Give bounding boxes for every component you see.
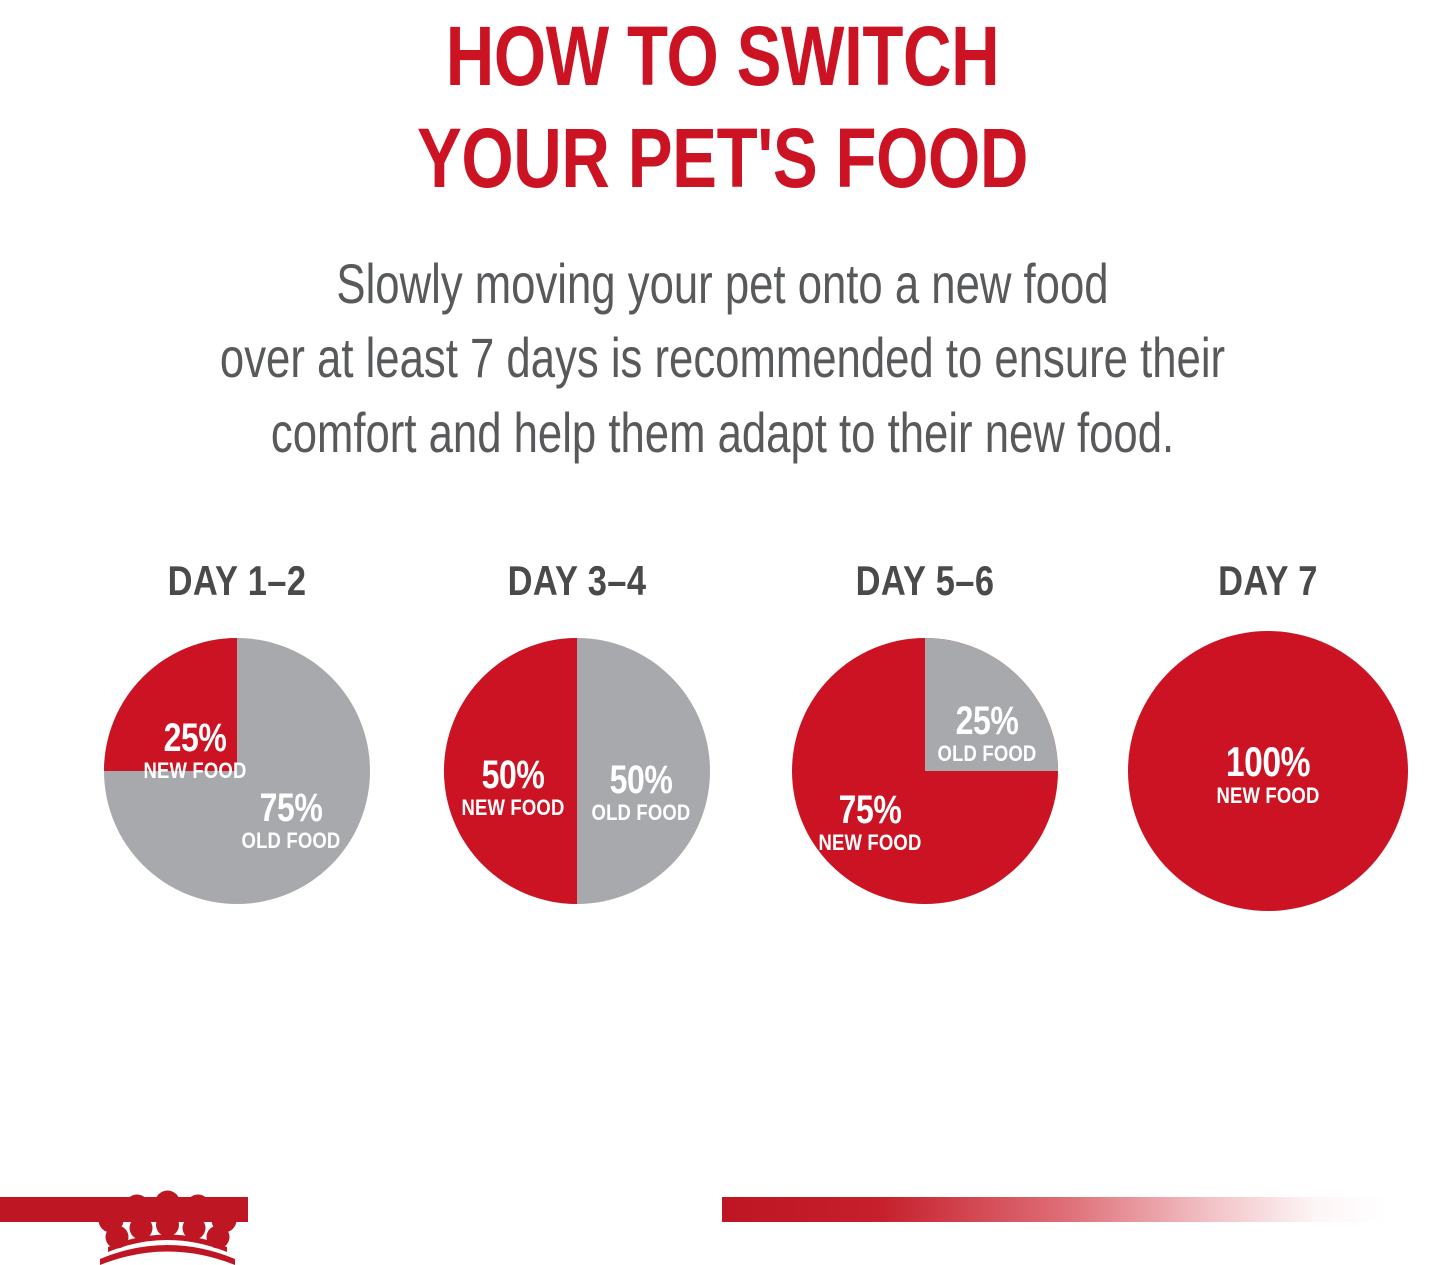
pie-chart-day-3-4: DAY 3–4 50% NEW FOOD 50% OLD FOOD: [427, 560, 727, 904]
page-subtitle: Slowly moving your pet onto a new food o…: [159, 247, 1286, 470]
pie-slice-old-food-3: [925, 638, 1058, 771]
pie-chart-day-7: DAY 7 100% NEW FOOD: [1118, 560, 1418, 911]
pie-svg-1: [104, 638, 370, 904]
pie-slice-new-food-2: [444, 638, 577, 904]
pie-chart-day-1-2: DAY 1–2 25% NEW FOOD 75% OLD FOOD: [87, 560, 387, 904]
pie-graphic-1: 25% NEW FOOD 75% OLD FOOD: [104, 638, 370, 904]
royal-canin-crown-icon: [86, 1175, 249, 1265]
pie-slice-new-food-4: [1128, 631, 1408, 911]
header: HOW TO SWITCH YOUR PET'S FOOD: [0, 0, 1445, 209]
day-label-3: DAY 5–6: [802, 560, 1048, 608]
page-title: HOW TO SWITCH YOUR PET'S FOOD: [145, 0, 1301, 209]
day-label-1: DAY 1–2: [114, 560, 360, 608]
pie-slice-new-food-1: [104, 638, 237, 771]
pie-svg-4: [1128, 631, 1408, 911]
pie-graphic-2: 50% NEW FOOD 50% OLD FOOD: [444, 638, 710, 904]
pie-graphic-3: 25% OLD FOOD 75% NEW FOOD: [792, 638, 1058, 904]
day-label-2: DAY 3–4: [454, 560, 700, 608]
footer-bar-right: [722, 1197, 1445, 1222]
pie-chart-row: DAY 1–2 25% NEW FOOD 75% OLD FOOD DAY 3–…: [0, 560, 1445, 960]
day-label-4: DAY 7: [1145, 560, 1391, 608]
footer-brand-bar: [0, 1197, 1445, 1265]
pie-graphic-4: 100% NEW FOOD: [1128, 631, 1408, 911]
pie-chart-day-5-6: DAY 5–6 25% OLD FOOD 75% NEW FOOD: [775, 560, 1075, 904]
pie-svg-2: [444, 638, 710, 904]
pie-svg-3: [792, 638, 1058, 904]
